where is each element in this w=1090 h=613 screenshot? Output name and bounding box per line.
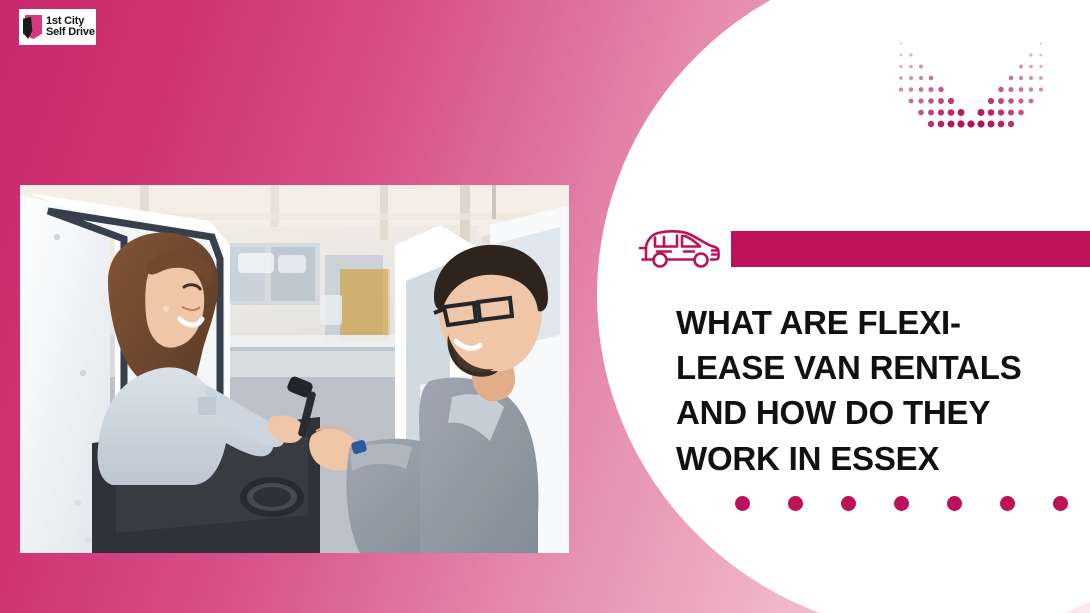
- decoration-dot: [788, 496, 803, 511]
- van-icon-glyph: [637, 226, 721, 272]
- decoration-dot: [841, 496, 856, 511]
- decoration-dot: [947, 496, 962, 511]
- headline-line-4: WORK IN ESSEX: [676, 436, 1076, 481]
- decoration-dot: [894, 496, 909, 511]
- chevron-dots-icon: [898, 28, 1048, 140]
- logo-line-2: Self Drive: [46, 27, 95, 38]
- hero-photo-illustration: [20, 185, 569, 553]
- decoration-dot: [1000, 496, 1015, 511]
- chevron-dots-glyph: [898, 28, 1048, 140]
- dot-row-decoration: [735, 496, 1068, 511]
- van-icon: [637, 226, 721, 272]
- hero-photo: [20, 185, 569, 553]
- logo-text: 1st City Self Drive: [46, 16, 95, 38]
- headline-line-3: AND HOW DO THEY: [676, 390, 1076, 435]
- logo-mark-icon: [23, 14, 43, 40]
- decoration-dot: [1053, 496, 1068, 511]
- accent-bar: [731, 231, 1090, 267]
- brand-logo[interactable]: 1st City Self Drive: [19, 9, 96, 45]
- decoration-dot: [735, 496, 750, 511]
- headline-line-1: WHAT ARE FLEXI-: [676, 300, 1076, 345]
- page-title: WHAT ARE FLEXI- LEASE VAN RENTALS AND HO…: [676, 300, 1076, 481]
- headline-line-2: LEASE VAN RENTALS: [676, 345, 1076, 390]
- promo-banner: 1st City Self Drive: [0, 0, 1090, 613]
